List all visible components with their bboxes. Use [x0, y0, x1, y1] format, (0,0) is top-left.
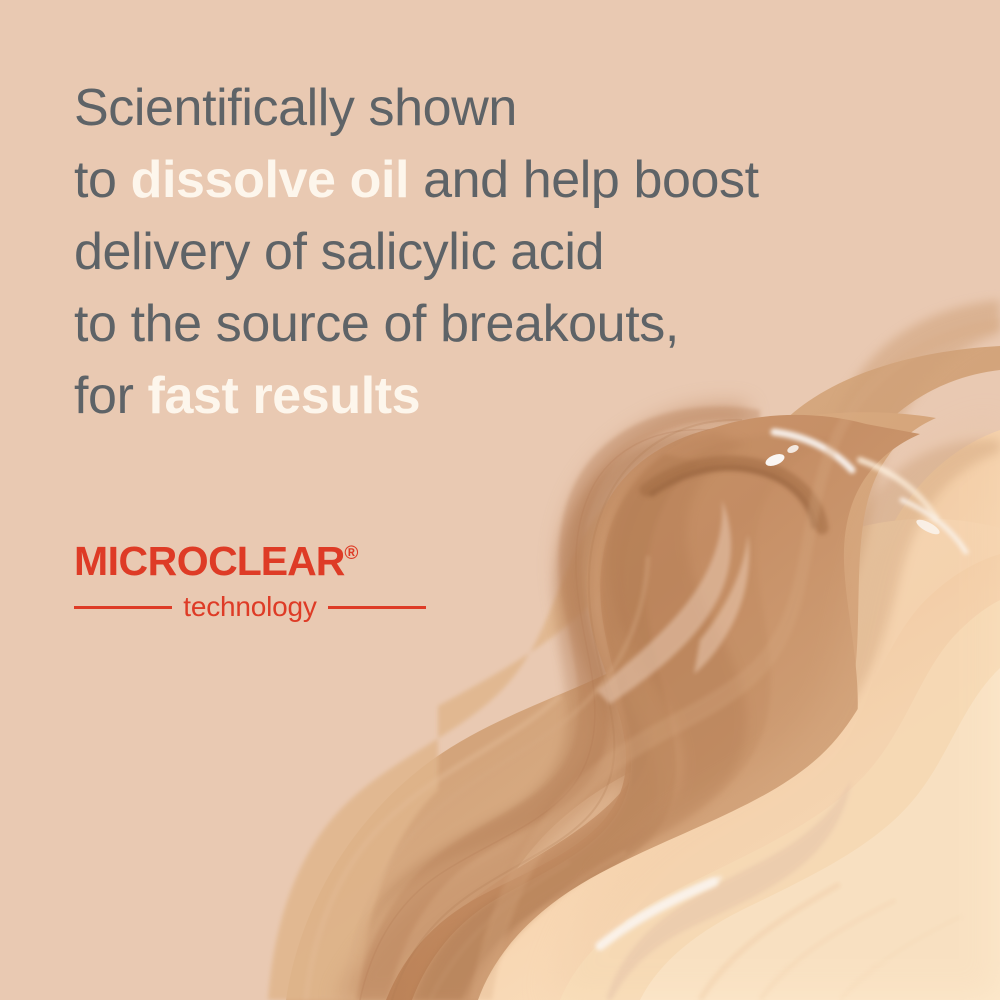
headline-line-1: Scientifically shown [74, 72, 954, 144]
headline-line-2: to dissolve oil and help boost [74, 144, 954, 216]
rule-left [74, 606, 172, 609]
headline-line-4: to the source of breakouts, [74, 288, 954, 360]
headline-highlight-dissolve-oil: dissolve oil [131, 151, 409, 209]
headline-highlight-fast-results: fast results [148, 367, 421, 425]
headline: Scientifically shown to dissolve oil and… [74, 72, 954, 432]
headline-line-5: for fast results [74, 360, 954, 432]
registered-trademark-icon: ® [344, 543, 358, 564]
headline-text: to the source of breakouts, [74, 295, 679, 353]
headline-text: for [74, 367, 148, 425]
rule-right [328, 606, 426, 609]
headline-text: Scientifically shown [74, 79, 517, 137]
headline-text: and help boost [409, 151, 759, 209]
headline-text: delivery of salicylic acid [74, 223, 604, 281]
microclear-subtitle: technology [183, 591, 316, 623]
wordmark-micro: MICRO [74, 538, 208, 584]
microclear-logo-lockup: MICROCLEAR® technology [74, 530, 474, 623]
wordmark-clear: CLEAR [208, 538, 344, 584]
headline-text: to [74, 151, 131, 209]
microclear-subtitle-row: technology [74, 591, 426, 623]
microclear-wordmark: MICROCLEAR® [74, 530, 474, 585]
headline-line-3: delivery of salicylic acid [74, 216, 954, 288]
product-claim-poster: Scientifically shown to dissolve oil and… [0, 0, 1000, 1000]
